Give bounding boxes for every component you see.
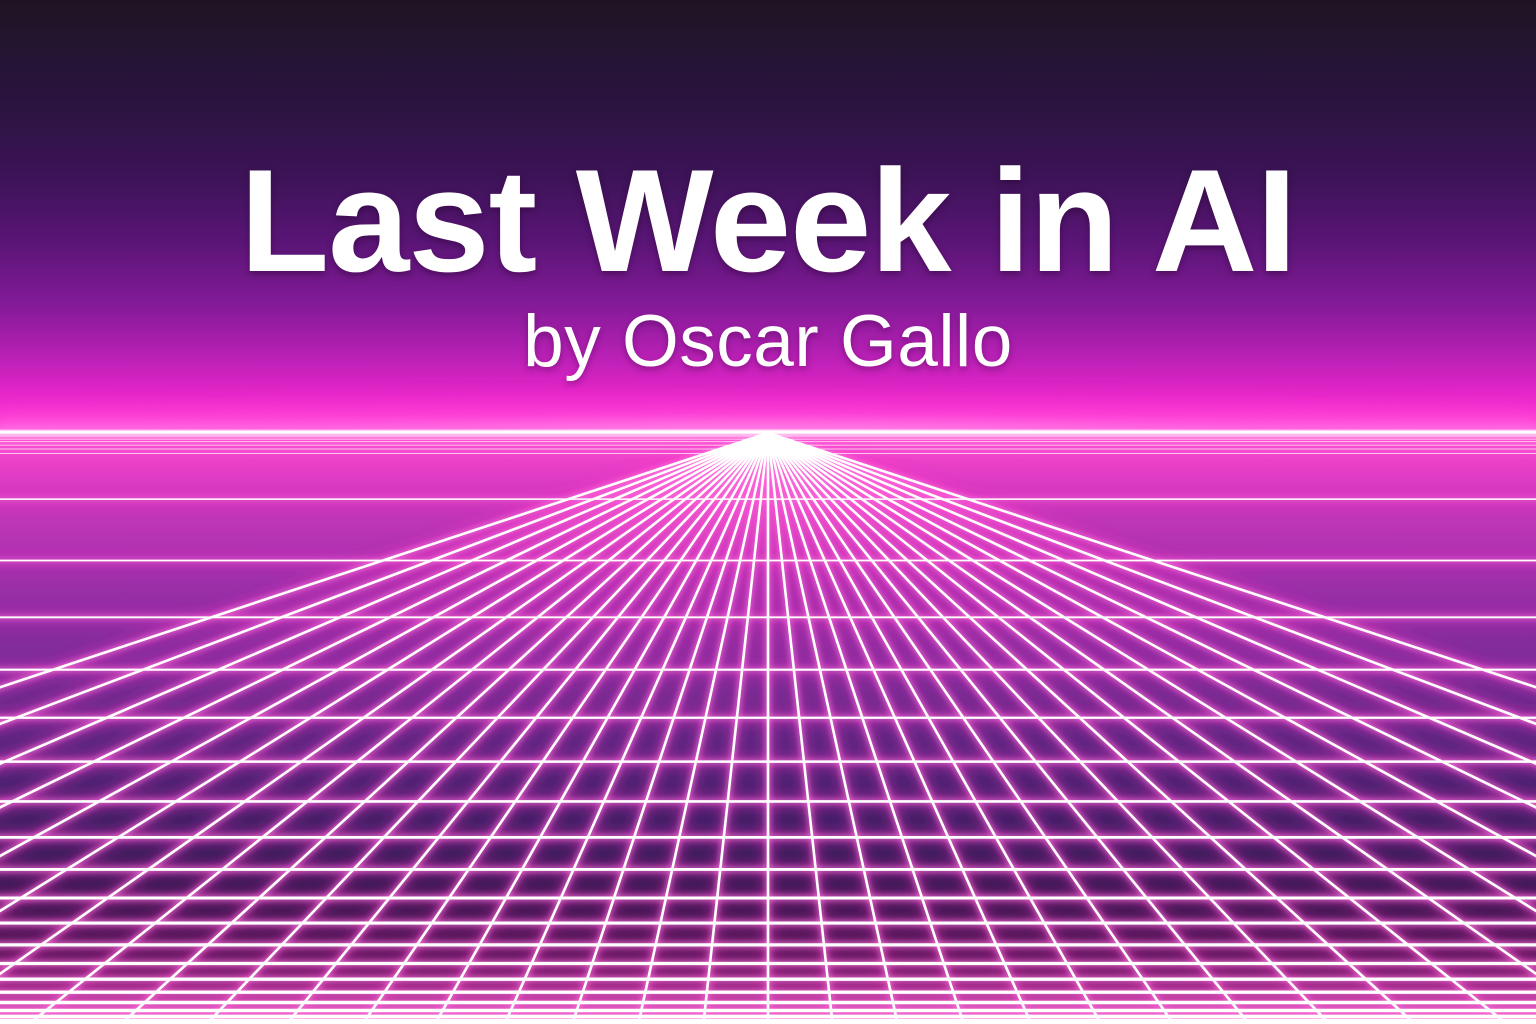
neon-grid <box>0 433 1536 1024</box>
grid-core-layer <box>0 433 1536 1024</box>
synthwave-banner: Last Week in AI by Oscar Gallo <box>0 0 1536 1024</box>
perspective-grid-floor <box>0 433 1536 1024</box>
author-subtitle: by Oscar Gallo <box>0 305 1536 378</box>
page-title: Last Week in AI <box>0 148 1536 294</box>
